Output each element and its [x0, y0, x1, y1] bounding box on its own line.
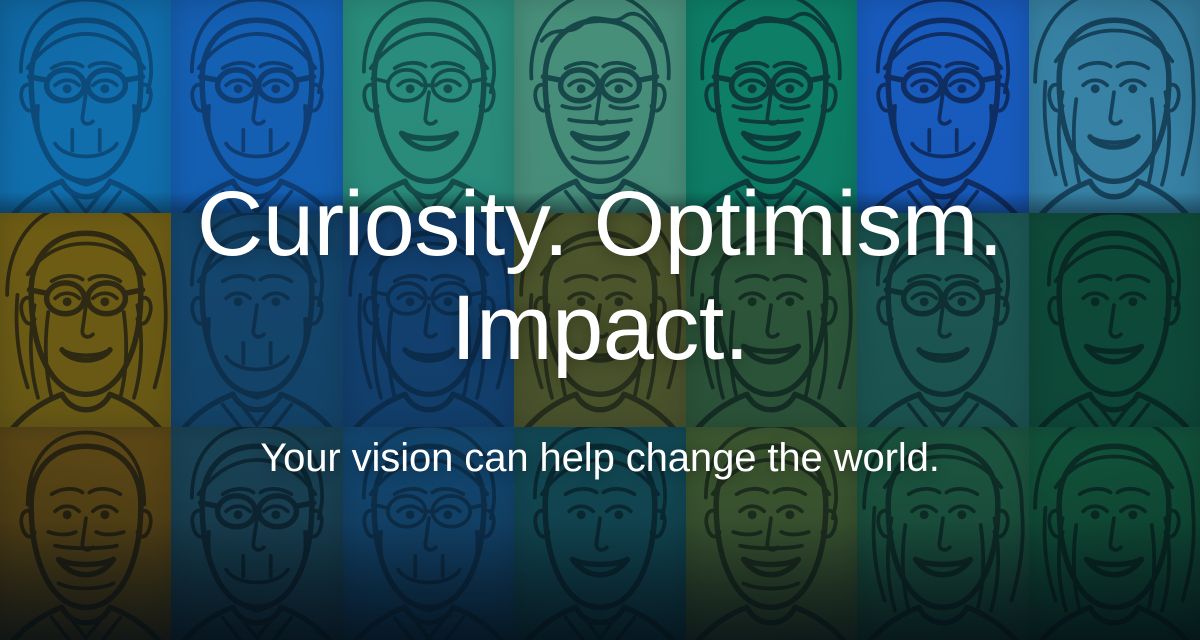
- mosaic-tile: [343, 427, 514, 640]
- portrait-older-woman-glasses: [514, 0, 685, 213]
- mosaic-tile: [686, 213, 857, 426]
- mosaic-tile: [514, 427, 685, 640]
- mosaic-tile: [857, 213, 1028, 426]
- portrait-smiling-person: [1029, 213, 1200, 426]
- mosaic-tile: [0, 213, 171, 426]
- portrait-smiling-older-man: [0, 427, 171, 640]
- mosaic-tile: [171, 213, 342, 426]
- hero-banner: Curiosity. Optimism. Impact. Your vision…: [0, 0, 1200, 640]
- portrait-woman-glasses-striped-top: [0, 213, 171, 426]
- mosaic-tile: [1029, 427, 1200, 640]
- portrait-older-woman-glasses: [686, 0, 857, 213]
- portrait-long-hair-woman: [1029, 0, 1200, 213]
- portrait-smiling-woman: [1029, 427, 1200, 640]
- portrait-smiling-man-closeup: [686, 427, 857, 640]
- mosaic-tile: [171, 427, 342, 640]
- mosaic-tile: [1029, 213, 1200, 426]
- portrait-long-hair-woman: [514, 213, 685, 426]
- portrait-woman-glasses: [343, 213, 514, 426]
- portrait-smiling-man: [514, 427, 685, 640]
- portrait-man-glasses: [857, 213, 1028, 426]
- portrait-mosaic: [0, 0, 1200, 640]
- portrait-smiling-woman-long-hair: [857, 427, 1028, 640]
- portrait-smiling-woman: [686, 213, 857, 426]
- portrait-man-glasses-beard-suit: [343, 427, 514, 640]
- mosaic-tile: [514, 213, 685, 426]
- portrait-bearded-man: [171, 213, 342, 426]
- mosaic-tile: [1029, 0, 1200, 213]
- portrait-man-glasses-beard: [171, 427, 342, 640]
- mosaic-tile: [0, 0, 171, 213]
- mosaic-tile: [171, 0, 342, 213]
- portrait-bearded-man-glasses: [0, 0, 171, 213]
- portrait-smiling-man-glasses: [343, 0, 514, 213]
- mosaic-tile: [343, 0, 514, 213]
- mosaic-tile: [0, 427, 171, 640]
- mosaic-tile: [686, 427, 857, 640]
- mosaic-tile: [857, 0, 1028, 213]
- portrait-bearded-man-glasses-suit: [857, 0, 1028, 213]
- mosaic-tile: [686, 0, 857, 213]
- mosaic-tile: [514, 0, 685, 213]
- mosaic-tile: [857, 427, 1028, 640]
- mosaic-tile: [343, 213, 514, 426]
- portrait-bearded-man-glasses: [171, 0, 342, 213]
